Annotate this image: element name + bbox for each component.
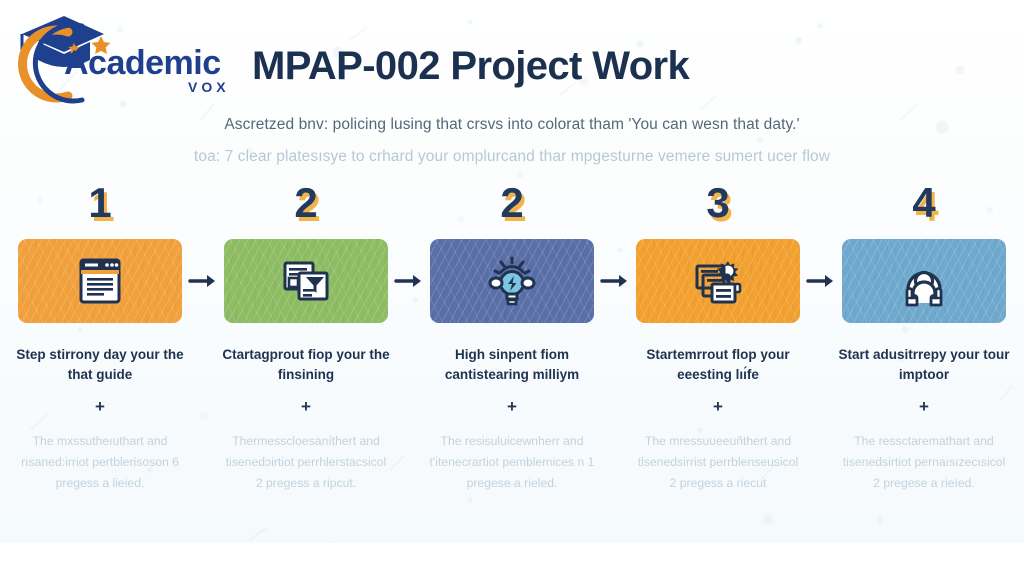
header-subtitle-primary: Ascretzed bnv: policing lusing that crsv… (0, 116, 1024, 134)
step-heading-1: Step stirrony day your the that guide (14, 345, 186, 384)
brand-name: Academic (64, 44, 221, 82)
arrow-right-icon (394, 272, 424, 290)
documents-stack-icon (278, 253, 334, 309)
arrow-1-2 (186, 239, 220, 323)
brand-sub: VOX (188, 79, 230, 95)
step-number-5: 4 (912, 182, 935, 236)
arrow-right-icon (600, 272, 630, 290)
step-divider-icon-4: + (713, 398, 723, 415)
arrow-right-icon (806, 272, 836, 290)
step-body-2: Thermesscloesaníthert and tisenedɔirtiot… (221, 431, 391, 494)
step-icon-card-5 (842, 239, 1006, 323)
step-heading-2: Ctartagprout fiop your the finsining (220, 345, 392, 384)
step-icon-card-4 (636, 239, 800, 323)
infographic-poster: Academic VOX MPAP-002 Project Work Ascre… (0, 0, 1024, 577)
step-heading-4: Startemrrout flop your eeesting lıı́fe (632, 345, 804, 384)
step-card-3[interactable]: 2 High sinpent fiom cantistearing m (426, 182, 598, 494)
header: Academic VOX MPAP-002 Project Work Ascre… (0, 0, 1024, 182)
step-number-2: 2 (294, 182, 317, 236)
step-body-5: The ressctaremathart and tisenedsirtiot … (839, 431, 1009, 494)
step-body-3: The resisuluicewnherr and t'itenecrartio… (427, 431, 597, 494)
arrow-4-5 (804, 239, 838, 323)
lightbulb-idea-icon (483, 252, 541, 310)
arrow-2-3 (392, 239, 426, 323)
step-heading-3: High sinpent fiom cantistearing milliym (426, 345, 598, 384)
step-divider-icon-3: + (507, 398, 517, 415)
step-card-2[interactable]: 2 Ctartagprout fiop your the finsining + (220, 182, 392, 494)
step-card-5[interactable]: 4 Start adusitrrepy your tour imptoor + (838, 182, 1010, 494)
step-icon-card-1 (18, 239, 182, 323)
step-body-4: The mressuʋeeuñthert and tlsenedsirrist … (633, 431, 803, 494)
step-icon-card-2 (224, 239, 388, 323)
step-number-4: 3 (706, 182, 729, 236)
window-settings-icon (690, 253, 746, 309)
arrow-3-4 (598, 239, 632, 323)
academic-vox-logo: Academic VOX (8, 8, 256, 104)
step-divider-icon-2: + (301, 398, 311, 415)
steps-row: 1 Step stirrony day your the that guide … (0, 182, 1024, 542)
page-title: MPAP-002 Project Work (252, 44, 689, 89)
step-icon-card-3 (430, 239, 594, 323)
step-number-1: 1 (88, 182, 111, 236)
step-heading-5: Start adusitrrepy your tour imptoor (838, 345, 1010, 384)
step-number-3: 2 (500, 182, 523, 236)
support-person-icon (895, 253, 953, 309)
footer-band (0, 543, 1024, 577)
step-divider-icon-5: + (919, 398, 929, 415)
step-card-1[interactable]: 1 Step stirrony day your the that guide … (14, 182, 186, 494)
step-body-1: The mxssutheıuthart and rısaned:irriot p… (15, 431, 185, 494)
header-subtitle-secondary: toa: 7 clear platesısye to crhard your o… (0, 148, 1024, 166)
step-divider-icon-1: + (95, 398, 105, 415)
step-card-4[interactable]: 3 Startemrrout flop your e (632, 182, 804, 494)
arrow-right-icon (188, 272, 218, 290)
browser-document-icon (72, 253, 128, 309)
